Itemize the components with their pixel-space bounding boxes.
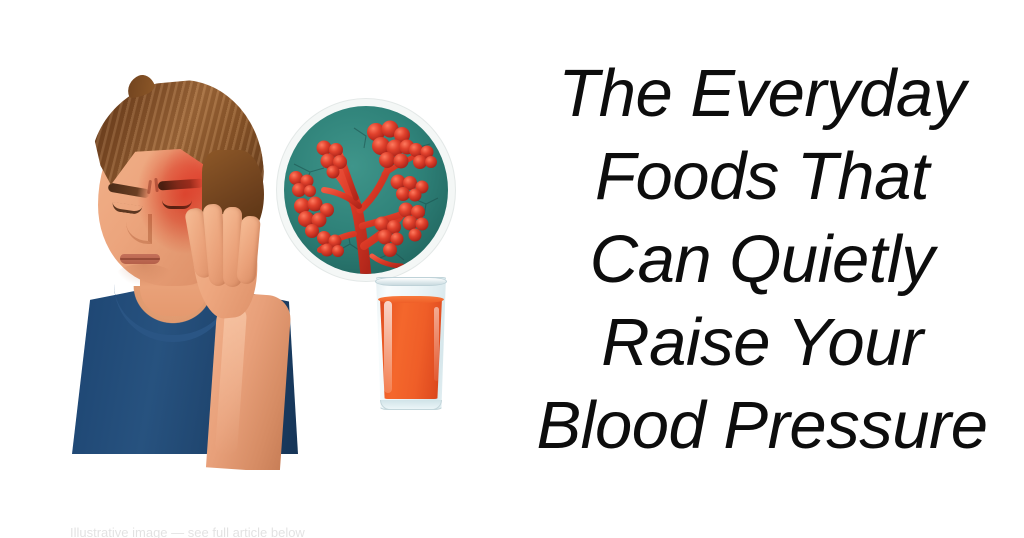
caption-text: Illustrative image — see full article be… <box>70 525 305 538</box>
blood-vessel-diagram-field <box>284 106 448 274</box>
man-with-headache-illustration <box>62 58 302 454</box>
glass-of-juice <box>373 277 449 410</box>
headline-line-4: Raise Your <box>601 301 923 384</box>
blood-vessel-diagram-inset <box>277 99 455 281</box>
glass-base <box>380 400 442 410</box>
glass-highlight-left <box>384 301 392 393</box>
headline-line-2: Foods That <box>595 135 929 218</box>
clipped-caption-strip: Illustrative image — see full article be… <box>0 524 1024 538</box>
glass-rim <box>375 277 447 286</box>
hand-at-temple <box>180 204 266 328</box>
headline-block: The Everyday Foods That Can Quietly Rais… <box>500 0 1024 470</box>
headline-line-1: The Everyday <box>558 52 965 135</box>
article-hero-banner: The Everyday Foods That Can Quietly Rais… <box>0 0 1024 538</box>
blood-vessel-icon <box>284 106 448 274</box>
glass-highlight-right <box>434 307 439 381</box>
headline-line-3: Can Quietly <box>590 218 935 301</box>
headline-line-5: Blood Pressure <box>536 384 987 467</box>
illustration-stage <box>0 0 500 470</box>
hero-illustration <box>0 0 500 538</box>
